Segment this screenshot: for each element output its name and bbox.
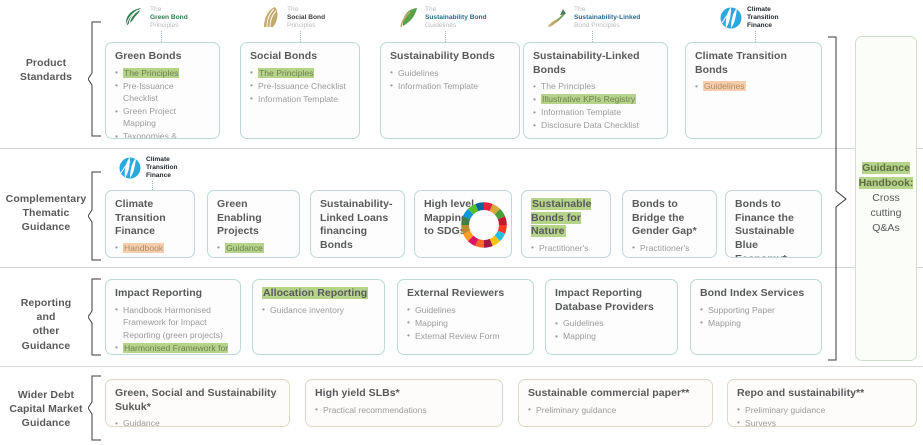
green-bond-leaf-icon	[121, 5, 147, 31]
card-title: Climate Transition Finance	[115, 198, 185, 239]
row-brace-reporting	[88, 278, 102, 356]
card-item-list: The Principles Pre-Issuance Checklist In…	[250, 67, 350, 105]
logo-climate-transition-finance-row2: Climate Transition Finance	[117, 155, 178, 181]
list-item-label: Mapping	[708, 318, 741, 328]
list-item-label: Surveys	[745, 418, 776, 427]
list-item[interactable]: Taxonomies & Nomenclatures	[115, 130, 210, 139]
guidance-handbook-brace	[827, 36, 847, 366]
icma-sustainable-finance-framework-diagram: Product Standards The Green Bond Princip…	[0, 0, 923, 445]
guidance-handbook-title-line-2: Handbook:	[859, 177, 914, 189]
card-repo-and-sustainability[interactable]: Repo and sustainability** Preliminary gu…	[727, 379, 917, 427]
card-green-social-and-sustainability-sukuk[interactable]: Green, Social and Sustainability Sukuk* …	[105, 379, 290, 427]
list-item[interactable]: Disclosure Data Checklist	[533, 119, 658, 131]
list-item[interactable]: Practical recommendations	[315, 404, 493, 416]
logo-line-3: Bond Principles	[574, 22, 620, 29]
row-brace-product-standards	[88, 21, 102, 137]
logo-line-1: The	[150, 6, 161, 13]
list-item-label: Guidance	[225, 243, 264, 253]
list-item[interactable]: The Principles	[533, 80, 658, 92]
logo-text: The Green Bond Principles	[150, 6, 188, 30]
list-item[interactable]: Information Template	[390, 80, 510, 92]
row-label-wider-debt-capital-market-guidance: Wider Debt Capital Market Guidance	[0, 388, 92, 431]
logo-line-3: Finance	[146, 172, 171, 179]
list-item[interactable]: Practitioner's Guide	[632, 242, 707, 258]
card-title: Impact Reporting Database Providers	[555, 287, 668, 314]
logo-sustainability-linked-bond-principles: The Sustainability-Linked Bond Principle…	[545, 5, 640, 31]
row-label-line: Guidance	[0, 220, 92, 234]
climate-transition-finance-globe-icon	[718, 5, 744, 31]
list-item[interactable]: The Principles	[250, 67, 350, 79]
card-item-list: Supporting Paper Mapping	[700, 304, 812, 329]
card-external-reviewers[interactable]: External Reviewers Guidelines Mapping Ex…	[397, 279, 534, 355]
list-item[interactable]: Guidelines	[555, 317, 668, 329]
sustainability-linked-bond-icon	[545, 5, 571, 31]
list-item-label: Methodologies Registry	[123, 256, 179, 258]
list-item[interactable]: Guidelines	[695, 80, 812, 92]
logo-sustainability-bond-guidelines: The Sustainability Bond Guidelines	[396, 5, 487, 31]
logo-social-bond-principles: The Social Bond Principles	[258, 5, 325, 31]
card-sustainability-linked-loans-financing-bonds[interactable]: Sustainability-Linked Loans financing Bo…	[310, 190, 405, 258]
card-item-list: Guidelines Mapping	[555, 317, 668, 342]
row-label-line: Complementary	[0, 192, 92, 206]
row-label-line: Guidance	[0, 339, 92, 353]
list-item-label: Preliminary guidance	[536, 405, 616, 415]
sustainability-bond-leaf-icon	[396, 5, 422, 31]
card-impact-reporting-database-providers[interactable]: Impact Reporting Database Providers Guid…	[545, 279, 678, 355]
list-item-label: External Review Form	[415, 331, 500, 341]
list-item-label: Handbook Harmonised Framework for Impact…	[123, 305, 223, 340]
list-item[interactable]: Guidance	[217, 242, 290, 254]
logo-text: The Social Bond Principles	[287, 6, 325, 30]
list-item-label: Handbook	[123, 243, 164, 253]
card-title: Sustainability-Linked Loans financing Bo…	[320, 198, 395, 253]
list-item[interactable]: Preliminary guidance	[737, 404, 907, 416]
card-title: External Reviewers	[407, 287, 524, 301]
list-item[interactable]: Guidelines	[407, 304, 524, 316]
list-item[interactable]: Mapping	[700, 317, 812, 329]
list-item-label: Guidelines	[398, 68, 439, 78]
list-item[interactable]: Guidance	[115, 417, 280, 427]
logo-line-1: The	[574, 6, 585, 13]
card-bonds-to-finance-the-sustainable-blue-economy[interactable]: Bonds to Finance the Sustainable Blue Ec…	[725, 190, 822, 258]
card-title: Sustainable Bonds for Nature	[531, 198, 601, 239]
list-item-label: Mapping	[415, 318, 448, 328]
row-label-line: Standards	[0, 70, 92, 84]
card-item-list: The Principles Pre-Issuance Checklist Gr…	[115, 67, 210, 139]
list-item[interactable]: Green Project Mapping	[115, 105, 210, 130]
card-item-list: Guidelines Mapping External Review Form	[407, 304, 524, 342]
guidance-handbook-text: Guidance Handbook: Cross cutting Q&As	[859, 161, 914, 236]
logo-connector-ctb	[755, 31, 756, 42]
list-item-label: Information Template	[398, 81, 478, 91]
logo-line-3: Finance	[747, 22, 772, 29]
logo-line-3: Principles	[150, 22, 179, 29]
logo-connector-social	[300, 31, 301, 42]
list-item[interactable]: External Review Form	[407, 330, 524, 342]
list-item-label: Information Template	[541, 107, 621, 117]
list-item-label: Practitioner's Guide	[640, 243, 689, 258]
social-bond-hands-icon	[258, 5, 284, 31]
list-item[interactable]: Practitioner's Guide	[531, 242, 601, 258]
list-item-label: Pre-Issuance Checklist	[123, 81, 174, 103]
card-title: Sustainable commercial paper**	[528, 387, 703, 401]
card-title: Impact Reporting	[115, 287, 231, 301]
list-item[interactable]: Guidelines	[320, 256, 395, 258]
list-item[interactable]: Supporting Paper	[700, 304, 812, 316]
list-item-label: Pre-Issuance Checklist	[258, 81, 346, 91]
logo-line-2: Sustainability Bond	[425, 14, 487, 21]
logo-line-1: Climate	[747, 6, 771, 13]
card-item-list: Guidelines	[320, 256, 395, 258]
logo-line-2: Transition	[747, 14, 779, 21]
card-social-bonds[interactable]: Social Bonds The Principles Pre-Issuance…	[240, 42, 360, 139]
list-item[interactable]: Mapping	[555, 330, 668, 342]
list-item-label: The Principles	[123, 68, 179, 78]
logo-text: Climate Transition Finance	[146, 156, 178, 180]
list-item-label: Information Template	[258, 94, 338, 104]
card-title: Bonds to Bridge the Gender Gap*	[632, 198, 707, 239]
card-title: Green, Social and Sustainability Sukuk*	[115, 387, 280, 414]
list-item-label: Guidelines	[328, 257, 371, 258]
list-item[interactable]: Information Template	[533, 106, 658, 118]
list-item[interactable]: Preliminary guidance	[528, 404, 703, 416]
list-item[interactable]: Surveys	[737, 417, 907, 427]
list-item[interactable]: Methodologies Registry	[115, 255, 185, 258]
card-high-level-mapping-to-sdgs[interactable]: High level Mapping to SDGs	[414, 190, 512, 258]
card-title: Social Bonds	[250, 50, 350, 64]
list-item[interactable]: Guidance inventory	[262, 304, 375, 316]
card-item-list: Preliminary guidance	[528, 404, 703, 416]
logo-climate-transition-finance-row1: Climate Transition Finance	[718, 5, 779, 31]
logo-line-1: The	[425, 6, 436, 13]
list-item-label: Practical recommendations	[323, 405, 427, 415]
card-climate-transition-finance[interactable]: Climate Transition Finance Handbook Meth…	[105, 190, 195, 258]
list-item-label: Green Project Mapping	[123, 106, 176, 128]
row-separator-3	[0, 366, 923, 367]
logo-line-3: Principles	[287, 22, 316, 29]
card-item-list: Practical recommendations	[315, 404, 493, 416]
list-item-label: Mapping	[563, 331, 596, 341]
list-item[interactable]: Handbook Harmonised Framework for Impact…	[115, 304, 231, 341]
logo-line-2: Green Bond	[150, 14, 188, 21]
row-label-reporting-and-other-guidance: Reporting and other Guidance	[0, 296, 92, 353]
card-title: Allocation Reporting	[262, 287, 375, 301]
list-item-label: Guidance	[123, 418, 160, 427]
card-title: Climate Transition Bonds	[695, 50, 812, 77]
card-impact-reporting[interactable]: Impact Reporting Handbook Harmonised Fra…	[105, 279, 241, 355]
card-sustainable-bonds-for-nature[interactable]: Sustainable Bonds for Nature Practitione…	[521, 190, 611, 258]
list-item-label: Harmonised Framework for Impact Reportin…	[123, 343, 228, 356]
card-item-list: Practitioner's Guide	[531, 242, 601, 258]
logo-line-1: The	[287, 6, 298, 13]
card-title: Repo and sustainability**	[737, 387, 907, 401]
list-item[interactable]: Pre-Issuance Checklist	[250, 80, 350, 92]
guidance-handbook-sub-line-1: Cross	[872, 192, 899, 204]
card-item-list: The Principles Illustrative KPIs Registr…	[533, 80, 658, 131]
list-item-label: Preliminary guidance	[745, 405, 825, 415]
card-item-list: Practitioner's Guide	[632, 242, 707, 258]
list-item-label: The Principles	[258, 68, 314, 78]
card-bond-index-services[interactable]: Bond Index Services Supporting Paper Map…	[690, 279, 822, 355]
card-high-yield-slbs[interactable]: High yield SLBs* Practical recommendatio…	[305, 379, 503, 427]
list-item-label: The Principles	[541, 81, 595, 91]
card-sustainable-commercial-paper[interactable]: Sustainable commercial paper** Prelimina…	[518, 379, 713, 427]
list-item-label: Taxonomies & Nomenclatures	[123, 131, 181, 139]
row-label-line: and	[0, 310, 92, 324]
list-item[interactable]: The Principles	[115, 67, 210, 79]
logo-connector-sustainability	[445, 31, 446, 42]
row-label-complementary-thematic-guidance: Complementary Thematic Guidance	[0, 192, 92, 235]
logo-line-3: Guidelines	[425, 22, 456, 29]
card-title: Green Enabling Projects	[217, 198, 290, 239]
card-item-list: Guidance inventory	[262, 304, 375, 316]
card-item-list: Handbook Harmonised Framework for Impact…	[115, 304, 231, 355]
logo-line-2: Transition	[146, 164, 178, 171]
row-label-line: other	[0, 324, 92, 338]
card-climate-transition-bonds[interactable]: Climate Transition Bonds Guidelines	[685, 42, 822, 139]
logo-text: The Sustainability Bond Guidelines	[425, 6, 487, 30]
logo-line-2: Social Bond	[287, 14, 325, 21]
row-label-line: Wider Debt	[0, 388, 92, 402]
card-sustainability-linked-bonds[interactable]: Sustainability-Linked Bonds The Principl…	[523, 42, 668, 139]
list-item[interactable]: Harmonised Framework for Impact Reportin…	[115, 342, 231, 356]
guidance-handbook-sub-line-3: Q&As	[872, 222, 899, 234]
card-title: Bonds to Finance the Sustainable Blue Ec…	[735, 198, 812, 258]
list-item[interactable]: Mapping	[407, 317, 524, 329]
logo-connector-ctf-row2	[152, 181, 153, 190]
card-sustainability-bonds[interactable]: Sustainability Bonds Guidelines Informat…	[380, 42, 520, 139]
climate-transition-finance-globe-icon	[117, 155, 143, 181]
sdg-wheel-icon	[461, 202, 507, 248]
card-item-list: Guidelines Information Template	[390, 67, 510, 92]
logo-green-bond-principles: The Green Bond Principles	[121, 5, 188, 31]
row-brace-wider-debt	[88, 375, 102, 441]
row-label-line: Product	[0, 56, 92, 70]
row-label-line: Capital Market	[0, 402, 92, 416]
list-item-label: Supporting Paper	[708, 305, 775, 315]
list-item-label: Guidance inventory	[270, 305, 344, 315]
list-item[interactable]: Illustrative KPIs Registry	[533, 93, 658, 105]
row-label-product-standards: Product Standards	[0, 56, 92, 84]
card-title: High yield SLBs*	[315, 387, 493, 401]
guidance-handbook-title-line-1: Guidance	[862, 162, 910, 174]
list-item-label: Guidelines	[563, 318, 604, 328]
card-title: Sustainability-Linked Bonds	[533, 50, 658, 77]
card-title: Sustainability Bonds	[390, 50, 510, 64]
logo-connector-green	[161, 31, 162, 42]
card-item-list: Guidelines	[695, 80, 812, 92]
row-label-line: Guidance	[0, 416, 92, 430]
card-guidance-handbook[interactable]: Guidance Handbook: Cross cutting Q&As	[855, 36, 917, 361]
logo-line-1: Climate	[146, 156, 170, 163]
list-item-label: Illustrative KPIs Registry	[541, 94, 636, 104]
list-item[interactable]: Guidelines	[390, 67, 510, 79]
row-separator-2	[0, 267, 923, 268]
card-allocation-reporting[interactable]: Allocation Reporting Guidance inventory	[252, 279, 385, 355]
card-item-list: Guidance	[115, 417, 280, 427]
logo-text: The Sustainability-Linked Bond Principle…	[574, 6, 640, 30]
row-label-line: Thematic	[0, 206, 92, 220]
list-item-label: Guidelines	[415, 305, 456, 315]
card-title: Green Bonds	[115, 50, 210, 64]
card-green-enabling-projects[interactable]: Green Enabling Projects Guidance	[207, 190, 300, 258]
logo-connector-slb	[592, 31, 593, 42]
list-item-label: Disclosure Data Checklist	[541, 120, 639, 130]
guidance-handbook-sub-line-2: cutting	[871, 207, 902, 219]
logo-text: Climate Transition Finance	[747, 6, 779, 30]
card-green-bonds[interactable]: Green Bonds The Principles Pre-Issuance …	[105, 42, 220, 139]
card-item-list: Preliminary guidance Surveys	[737, 404, 907, 427]
logo-line-2: Sustainability-Linked	[574, 14, 640, 21]
row-label-line: Reporting	[0, 296, 92, 310]
card-item-list: Handbook Methodologies Registry	[115, 242, 185, 258]
list-item-label: Guidelines	[703, 81, 746, 91]
list-item[interactable]: Pre-Issuance Checklist	[115, 80, 210, 105]
card-item-list: Guidance	[217, 242, 290, 254]
card-title-label: Allocation Reporting	[262, 287, 368, 299]
row-separator-1	[0, 148, 923, 149]
card-bonds-to-bridge-the-gender-gap[interactable]: Bonds to Bridge the Gender Gap* Practiti…	[622, 190, 717, 258]
list-item[interactable]: Handbook	[115, 242, 185, 254]
card-title: Bond Index Services	[700, 287, 812, 301]
list-item[interactable]: Information Template	[250, 93, 350, 105]
list-item-label: Practitioner's Guide	[539, 243, 588, 258]
card-title-label: Sustainable Bonds for Nature	[531, 198, 591, 237]
row-brace-complementary	[88, 171, 102, 261]
